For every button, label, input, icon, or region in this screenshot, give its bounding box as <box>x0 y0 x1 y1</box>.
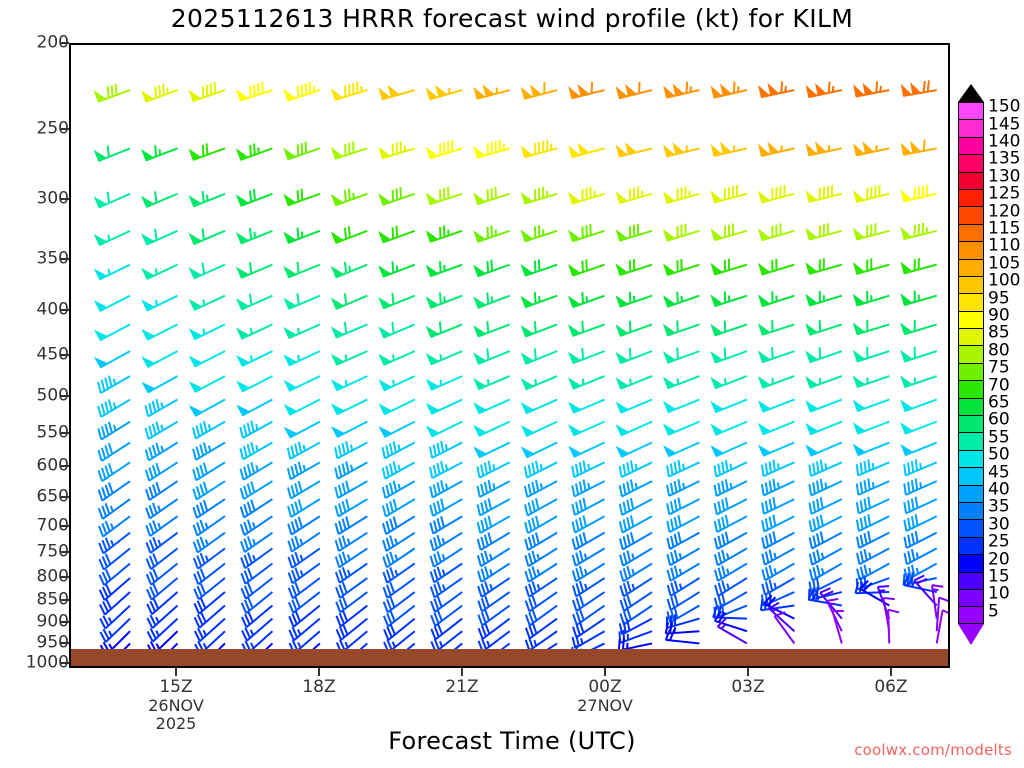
wind-barb <box>857 479 889 495</box>
wind-barb <box>195 619 225 642</box>
colorbar-cell <box>958 154 984 171</box>
wind-barb <box>194 516 225 535</box>
wind-barb <box>95 231 130 245</box>
x-tick-date-label: 27NOV <box>577 697 633 715</box>
wind-barb <box>474 187 510 204</box>
wind-barb <box>854 258 890 274</box>
colorbar-cell <box>958 502 984 519</box>
y-tick-mark <box>60 42 69 44</box>
wind-barb <box>95 84 131 102</box>
colorbar-tick-label: 80 <box>988 342 1010 359</box>
colorbar-cell <box>958 293 984 310</box>
wind-barb <box>572 515 604 532</box>
wind-barb <box>522 321 558 336</box>
wind-barb <box>242 606 273 628</box>
wind-barb <box>284 293 319 309</box>
colorbar-tick-label: 90 <box>988 308 1010 325</box>
colorbar-cell <box>958 537 984 554</box>
y-tick-mark <box>60 551 69 553</box>
colorbar-cell <box>958 589 984 606</box>
wind-barb <box>762 479 794 496</box>
wind-barb <box>901 443 936 456</box>
wind-barb <box>711 82 746 98</box>
colorbar-tick-label: 145 <box>988 116 1020 133</box>
wind-barb <box>142 324 177 339</box>
colorbar-tick-label: 65 <box>988 395 1010 412</box>
wind-barb <box>905 548 937 564</box>
wind-barb <box>759 347 795 362</box>
wind-barb <box>383 462 415 479</box>
x-tick-group: 15Z26NOV2025 <box>148 678 204 733</box>
wind-barb <box>95 296 130 311</box>
wind-barb <box>857 531 889 548</box>
wind-barb <box>189 191 224 206</box>
wind-barb <box>616 348 652 363</box>
wind-barb <box>474 86 510 99</box>
wind-barb <box>617 400 652 413</box>
x-tick-mark <box>747 668 749 676</box>
wind-barb <box>474 400 509 414</box>
wind-barb <box>427 293 463 308</box>
wind-barb <box>711 291 747 306</box>
wind-barb <box>332 422 367 437</box>
wind-barb <box>620 460 652 477</box>
wind-barb <box>664 443 699 457</box>
x-tick-mark <box>461 668 463 676</box>
wind-barb <box>904 531 936 548</box>
wind-barb <box>146 481 178 500</box>
wind-barb <box>379 322 414 338</box>
colorbar-cell <box>958 311 984 328</box>
wind-barb <box>237 376 272 391</box>
wind-barb <box>806 223 842 239</box>
wind-barb <box>572 480 604 497</box>
wind-barb <box>522 140 558 157</box>
wind-barb <box>888 610 899 644</box>
wind-barb <box>98 443 130 461</box>
wind-barb <box>522 259 558 275</box>
x-tick-time-label: 03Z <box>731 678 764 697</box>
wind-barb <box>100 619 130 642</box>
colorbar-tick-label: 70 <box>988 377 1010 394</box>
wind-barb <box>98 399 130 416</box>
wind-barb <box>237 82 273 101</box>
wind-barb <box>190 400 225 416</box>
wind-barb <box>715 515 747 532</box>
colorbar-cell <box>958 119 984 136</box>
wind-barb <box>142 265 177 279</box>
colorbar-cell <box>958 398 984 415</box>
wind-barb <box>237 143 273 160</box>
wind-barb <box>474 348 509 363</box>
wind-barb <box>193 481 225 499</box>
wind-barb <box>759 376 795 388</box>
wind-barb <box>142 351 177 367</box>
wind-barb <box>284 262 319 277</box>
wind-barb <box>193 462 225 480</box>
wind-barb <box>284 324 319 338</box>
wind-barb <box>810 548 842 564</box>
wind-barb <box>572 498 604 515</box>
wind-barb <box>762 460 794 476</box>
wind-barb <box>667 515 699 532</box>
wind-barb <box>100 592 130 615</box>
colorbar-tick-label: 115 <box>988 221 1020 238</box>
wind-barb <box>430 461 462 478</box>
wind-barb <box>384 619 415 640</box>
wind-barb <box>427 86 463 99</box>
wind-barb <box>430 499 462 516</box>
wind-barb <box>901 376 937 387</box>
colorbar-tick-label: 105 <box>988 255 1020 272</box>
colorbar-cell <box>958 380 984 397</box>
source-credit: coolwx.com/modelts <box>854 741 1012 759</box>
colorbar-tick-label: 140 <box>988 134 1020 151</box>
wind-barb <box>332 262 367 277</box>
wind-barb <box>288 499 320 517</box>
wind-barb <box>854 376 890 387</box>
x-tick-time-label: 18Z <box>302 678 335 697</box>
wind-barb <box>289 619 320 641</box>
wind-barb <box>854 400 890 412</box>
colorbar-tick-label: 5 <box>988 603 999 620</box>
wind-barb <box>857 459 890 475</box>
wind-barb <box>525 498 557 515</box>
wind-barb <box>664 400 699 413</box>
wind-barb <box>711 259 747 275</box>
colorbar-tick-label: 110 <box>988 238 1020 255</box>
wind-barb <box>759 185 795 202</box>
wind-barb <box>337 619 368 640</box>
wind-barb <box>284 82 320 101</box>
wind-barb <box>146 462 178 480</box>
wind-barb <box>525 548 557 566</box>
wind-barb <box>667 532 699 549</box>
wind-barb <box>332 293 367 309</box>
wind-barb <box>427 400 462 414</box>
wind-barb <box>383 441 415 458</box>
colorbar-cell <box>958 276 984 293</box>
wind-barb <box>616 224 652 241</box>
wind-barb <box>474 140 510 158</box>
wind-barb <box>284 228 320 243</box>
wind-barb <box>193 442 225 459</box>
wind-barb <box>95 265 130 280</box>
colorbar-tick-label: 125 <box>988 186 1020 203</box>
colorbar-tick-label: 50 <box>988 447 1010 464</box>
wind-barb <box>759 400 795 412</box>
wind-barb <box>190 324 225 339</box>
colorbar-tick-label: 75 <box>988 360 1010 377</box>
x-tick-group: 21Z <box>445 678 478 697</box>
colorbar-cell <box>958 241 984 258</box>
y-tick-mark <box>60 465 69 467</box>
wind-barb <box>901 80 936 96</box>
wind-barb <box>474 443 509 458</box>
colorbar-cell <box>958 363 984 380</box>
wind-barb <box>810 563 842 580</box>
wind-barb <box>569 400 604 413</box>
wind-barb <box>901 140 936 155</box>
wind-barb <box>285 376 320 391</box>
wind-barb <box>193 499 225 518</box>
x-tick-mark <box>175 668 177 676</box>
y-tick-mark <box>60 258 69 260</box>
wind-barb <box>806 258 842 274</box>
wind-barb <box>806 143 841 156</box>
colorbar-tick-label: 120 <box>988 203 1020 220</box>
wind-barb <box>667 460 699 477</box>
wind-barb <box>901 258 937 273</box>
wind-barb <box>335 481 367 498</box>
wind-barb <box>711 223 747 240</box>
wind-barb <box>95 146 130 161</box>
wind-barb <box>100 606 130 629</box>
x-tick-group: 00Z27NOV <box>577 678 633 715</box>
wind-barb <box>95 192 130 208</box>
wind-barb <box>95 324 130 340</box>
y-tick-mark <box>60 662 69 664</box>
wind-barb <box>332 376 367 390</box>
y-tick-mark <box>60 395 69 397</box>
wind-barb <box>569 348 605 363</box>
wind-barb <box>715 548 747 565</box>
wind-barb <box>379 86 415 99</box>
wind-barb <box>285 400 320 415</box>
wind-barb <box>715 498 747 515</box>
wind-barb <box>478 516 510 533</box>
wind-barb <box>854 81 889 96</box>
plot-area <box>69 43 950 668</box>
wind-barb <box>664 292 700 307</box>
wind-barb <box>806 422 841 435</box>
wind-barb <box>142 191 177 207</box>
wind-barb <box>430 533 462 551</box>
wind-barb <box>478 548 510 566</box>
wind-barb <box>477 461 509 478</box>
colorbar-cell <box>958 206 984 223</box>
wind-barb <box>806 347 842 362</box>
wind-barb <box>759 259 795 275</box>
wind-barb <box>478 533 510 550</box>
wind-barb <box>241 533 272 552</box>
wind-barb <box>854 443 889 456</box>
wind-barb <box>147 606 177 629</box>
wind-barb <box>901 400 937 412</box>
wind-barb <box>237 189 273 206</box>
wind-barb <box>284 189 320 206</box>
wind-barb <box>711 143 746 156</box>
wind-barb <box>522 376 557 389</box>
wind-barb <box>620 532 652 549</box>
wind-barb <box>854 291 890 306</box>
wind-barb-field <box>71 45 948 666</box>
wind-barb <box>477 480 509 497</box>
wind-barb <box>525 516 557 533</box>
wind-barb <box>620 480 652 497</box>
wind-barb <box>379 226 415 243</box>
colorbar-tick-label: 100 <box>988 273 1020 290</box>
colorbar-cell <box>958 328 984 345</box>
wind-barb <box>335 499 367 516</box>
wind-barb <box>474 293 510 308</box>
wind-barb <box>569 321 605 336</box>
wind-barb <box>569 443 604 457</box>
y-tick-mark <box>60 496 69 498</box>
wind-barb <box>146 499 177 518</box>
wind-barb <box>854 143 889 156</box>
wind-barb <box>430 441 462 458</box>
wind-barb <box>146 516 177 536</box>
wind-barb <box>288 462 320 479</box>
wind-barb <box>809 479 841 496</box>
wind-barb <box>617 422 652 436</box>
wind-barb <box>715 532 747 549</box>
wind-barb <box>809 460 841 476</box>
colorbar-tick-label: 45 <box>988 464 1010 481</box>
wind-barb <box>806 320 842 335</box>
wind-barb <box>620 515 652 532</box>
wind-barb <box>620 548 652 565</box>
wind-barb <box>762 497 794 514</box>
colorbar-tick-label: 150 <box>988 99 1020 116</box>
wind-barb <box>573 563 605 581</box>
wind-barb <box>142 145 178 160</box>
colorbar-cell <box>958 259 984 276</box>
wind-barb <box>383 533 415 551</box>
wind-barb <box>573 532 605 549</box>
colorbar-cell <box>958 450 984 467</box>
wind-barb <box>427 140 463 158</box>
wind-barb <box>427 351 462 364</box>
wind-barb <box>664 186 700 203</box>
wind-barb <box>430 480 462 497</box>
wind-barb <box>288 442 320 459</box>
wind-barb <box>478 498 510 515</box>
wind-barb <box>240 442 272 459</box>
wind-speed-colorbar: 5101520253035404550556065707580859095100… <box>958 84 1024 654</box>
colorbar-tick-label: 85 <box>988 325 1010 342</box>
wind-barb <box>288 533 320 552</box>
x-tick-time-label: 00Z <box>577 678 633 697</box>
wind-barb <box>904 514 936 531</box>
y-tick-mark <box>60 576 69 578</box>
wind-barb <box>762 578 794 595</box>
wind-barb <box>240 462 272 479</box>
wind-barb <box>569 82 604 98</box>
terrain-surface-bar <box>71 649 948 666</box>
wind-barb <box>901 223 936 239</box>
colorbar-cell <box>958 415 984 432</box>
wind-barb <box>474 260 510 277</box>
wind-barb <box>332 82 368 100</box>
wind-barb <box>806 82 841 98</box>
x-tick-group: 06Z <box>874 678 907 697</box>
colorbar-cell <box>958 519 984 536</box>
wind-barb <box>569 422 604 436</box>
wind-barb <box>383 499 415 516</box>
wind-barb <box>664 376 700 388</box>
wind-barb <box>762 548 794 564</box>
wind-barb <box>237 351 272 366</box>
wind-barb <box>332 141 368 158</box>
wind-barb <box>99 462 131 481</box>
colorbar-tick-label: 95 <box>988 290 1010 307</box>
wind-barb <box>711 185 747 202</box>
wind-barb <box>901 185 936 202</box>
wind-barb <box>569 224 605 241</box>
wind-barb <box>718 619 747 644</box>
wind-barb <box>806 376 842 388</box>
wind-barb <box>806 443 841 456</box>
wind-barb <box>427 376 462 390</box>
wind-barb <box>901 320 937 335</box>
wind-barb <box>143 376 178 392</box>
wind-barb <box>522 400 557 414</box>
wind-barb <box>522 422 557 436</box>
wind-barb <box>711 422 746 435</box>
wind-barb <box>142 84 178 102</box>
wind-barb <box>332 226 368 243</box>
colorbar-arrow-top-icon <box>958 84 984 102</box>
colorbar-cell <box>958 224 984 241</box>
wind-barb <box>379 261 415 276</box>
wind-barb <box>810 531 842 548</box>
wind-barb <box>525 461 557 478</box>
wind-barb <box>148 619 178 642</box>
x-tick-mark <box>604 668 606 676</box>
wind-barb <box>288 516 320 534</box>
y-tick-mark <box>60 198 69 200</box>
wind-barb <box>284 142 320 160</box>
wind-barb <box>617 376 652 389</box>
wind-barb <box>522 187 558 204</box>
wind-barb <box>190 296 225 310</box>
x-tick-time-label: 06Z <box>874 678 907 697</box>
wind-barb <box>759 443 794 456</box>
wind-barb <box>522 443 557 458</box>
wind-barb <box>762 531 794 548</box>
wind-barb <box>379 141 415 158</box>
wind-barb <box>569 292 605 307</box>
wind-barb <box>569 376 604 389</box>
wind-barb <box>379 376 414 390</box>
wind-barb <box>617 82 652 98</box>
colorbar-cell <box>958 606 984 623</box>
wind-barb <box>190 263 225 279</box>
wind-barb <box>857 548 889 564</box>
wind-barb <box>145 399 177 416</box>
page-title: 2025112613 HRRR forecast wind profile (k… <box>0 4 1024 33</box>
wind-profile-chart: 2025112613 HRRR forecast wind profile (k… <box>0 0 1024 768</box>
colorbar-tick-label: 20 <box>988 551 1010 568</box>
colorbar-tick-label: 15 <box>988 569 1010 586</box>
wind-barb <box>427 422 462 437</box>
wind-barb <box>142 229 177 245</box>
wind-barb <box>237 228 272 243</box>
wind-barb <box>569 144 605 157</box>
wind-barb <box>241 499 273 517</box>
wind-barb <box>336 533 368 551</box>
wind-barb <box>572 460 604 477</box>
wind-barb <box>664 320 700 335</box>
wind-barb <box>142 296 177 311</box>
wind-barb <box>237 400 272 416</box>
wind-barb <box>237 324 272 338</box>
wind-barb <box>190 228 225 244</box>
wind-barb <box>189 143 225 160</box>
wind-barb <box>569 187 605 204</box>
